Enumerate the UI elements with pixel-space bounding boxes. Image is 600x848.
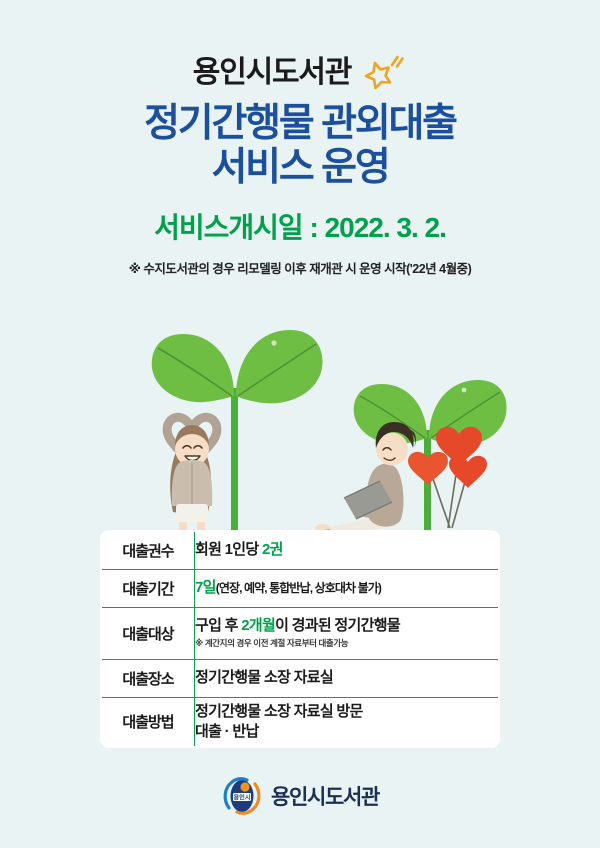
footer-logo-text: 용인시도서관 <box>271 781 379 811</box>
table-row-value: 정기간행물 소장 자료실 방문 대출 · 반납 <box>195 697 500 747</box>
table-row-label: 대출방법 <box>101 697 195 747</box>
svg-text:용인시: 용인시 <box>233 793 250 801</box>
page-title-line-2: 서비스 운영 <box>0 146 600 190</box>
value-suffix: (연장, 예약, 통합반납, 상호대차 불가) <box>216 581 381 595</box>
table-row-label: 대출대상 <box>101 607 195 659</box>
table-row-label: 대출기간 <box>101 569 195 607</box>
illustration-svg <box>0 318 600 543</box>
poster: 용인시도서관 정기간행물 관외대출 서비스 운영 서비스개시일 : 2022. … <box>0 0 600 848</box>
table-row-value: 정기간행물 소장 자료실 <box>195 659 500 697</box>
loan-info-table: 대출권수 회원 1인당 2권 대출기간 7일(연장, 예약, 통합반납, 상호대… <box>100 530 500 748</box>
star-sparkle-icon <box>361 53 407 93</box>
value-prefix: 정기간행물 소장 자료실 <box>195 669 333 686</box>
table-row: 대출기간 7일(연장, 예약, 통합반납, 상호대차 불가) <box>101 569 499 607</box>
yongin-city-emblem-icon: 용인시 <box>221 776 263 816</box>
table-row: 대출방법 정기간행물 소장 자료실 방문 대출 · 반납 <box>101 697 499 747</box>
table-row-label: 대출권수 <box>101 531 195 569</box>
value-suffix: 이 경과된 정기간행물 <box>275 617 400 634</box>
page-title: 정기간행물 관외대출 서비스 운영 <box>0 102 600 189</box>
table-row-label: 대출장소 <box>101 659 195 697</box>
brand-title: 용인시도서관 <box>193 58 351 88</box>
brand-row: 용인시도서관 <box>0 52 600 94</box>
value-highlight: 7일 <box>195 579 216 596</box>
value-highlight: 2개월 <box>241 617 275 634</box>
value-prefix: 구입 후 <box>195 617 241 634</box>
table-row-sub-note: ※ 계간지의 경우 이전 계절 자료부터 대출가능 <box>195 638 498 649</box>
value-highlight: 2권 <box>262 541 283 558</box>
page-title-line-1: 정기간행물 관외대출 <box>144 102 456 145</box>
table-row: 대출대상 구입 후 2개월이 경과된 정기간행물 ※ 계간지의 경우 이전 계절… <box>101 607 499 659</box>
poster-header: 용인시도서관 정기간행물 관외대출 서비스 운영 서비스개시일 : 2022. … <box>0 0 600 277</box>
value-line-2: 대출 · 반납 <box>195 722 498 742</box>
loan-info-table-wrap: 대출권수 회원 1인당 2권 대출기간 7일(연장, 예약, 통합반납, 상호대… <box>100 530 500 748</box>
boy-reading-illustration <box>315 422 416 537</box>
footer: 용인시 용인시도서관 <box>0 776 600 816</box>
header-note: ※ 수지도서관의 경우 리모델링 이후 재개관 시 운영 시작('22년 4월중… <box>0 258 600 277</box>
heart-balloons-icon <box>408 427 487 528</box>
table-row-value: 회원 1인당 2권 <box>195 531 500 569</box>
value-prefix: 회원 1인당 <box>195 541 262 558</box>
value-line-1: 정기간행물 소장 자료실 방문 <box>195 702 498 722</box>
table-row-value: 7일(연장, 예약, 통합반납, 상호대차 불가) <box>195 569 500 607</box>
illustration <box>0 318 600 543</box>
table-row: 대출장소 정기간행물 소장 자료실 <box>101 659 499 697</box>
table-row: 대출권수 회원 1인당 2권 <box>101 531 499 569</box>
service-start-date: 서비스개시일 : 2022. 3. 2. <box>0 214 600 242</box>
girl-heart-pose-illustration <box>167 417 217 542</box>
table-row-value: 구입 후 2개월이 경과된 정기간행물 ※ 계간지의 경우 이전 계절 자료부터… <box>195 607 500 659</box>
